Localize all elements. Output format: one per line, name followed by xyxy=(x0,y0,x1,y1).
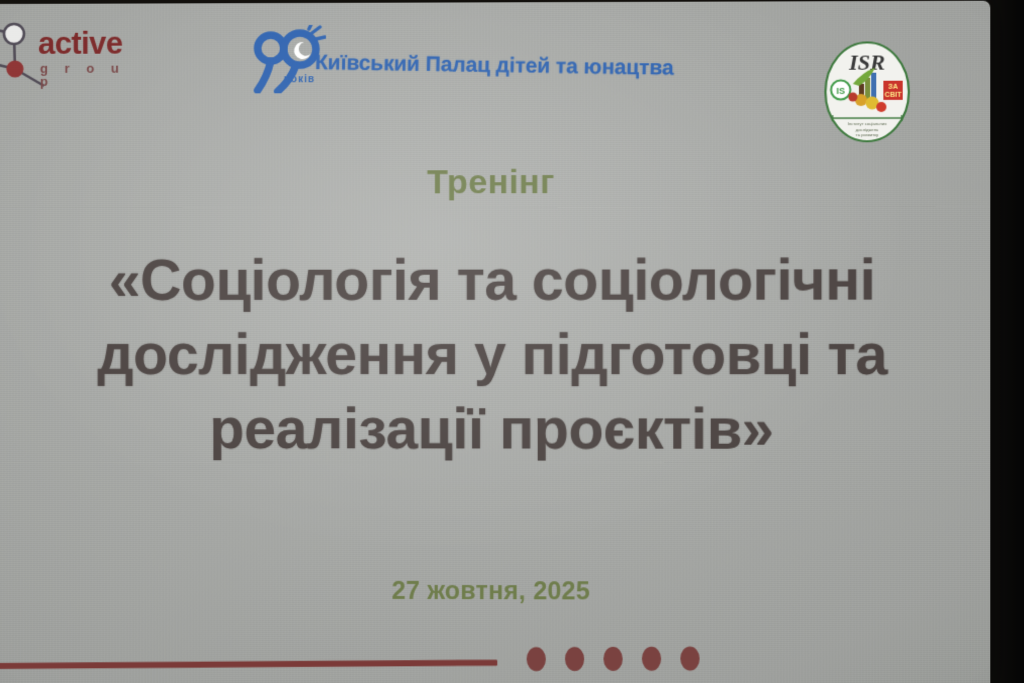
logo-active-group-subword: g r o u p xyxy=(40,62,146,88)
footer-rule xyxy=(0,660,497,669)
svg-text:Інститут соціальних: Інститут соціальних xyxy=(848,121,888,126)
footer-dot xyxy=(603,647,622,671)
logo-isr: ISR IS ЗА СВІТ xyxy=(814,39,920,144)
svg-text:СВІТ: СВІТ xyxy=(885,92,902,99)
isr-emblem-icon: ISR IS ЗА СВІТ xyxy=(814,39,920,144)
svg-text:років: років xyxy=(284,74,315,85)
logo-active-group: active g r o u p xyxy=(0,12,146,98)
logo-active-group-word: active xyxy=(38,28,122,59)
photograph: active g r o u p років Київський Палац xyxy=(0,0,1024,683)
footer-dot xyxy=(642,647,661,671)
headline-line-2: дослідження у підготовці та xyxy=(0,318,990,393)
footer-dots xyxy=(527,646,700,671)
headline-line-1: «Соціологія та соціологічні xyxy=(0,243,990,318)
logo-kyiv-palace-text: Київський Палац дітей та юнацтва xyxy=(315,51,674,81)
slide-kicker: Тренінг xyxy=(0,162,990,203)
presentation-slide: active g r o u p років Київський Палац xyxy=(0,1,990,683)
slide-headline: «Соціологія та соціологічні дослідження … xyxy=(0,243,990,467)
projection-screen: active g r o u p років Київський Палац xyxy=(0,1,990,683)
slide-date: 27 жовтня, 2025 xyxy=(0,576,990,607)
footer-dot xyxy=(565,647,584,671)
svg-text:ISR: ISR xyxy=(848,49,885,74)
svg-text:IS: IS xyxy=(836,86,845,96)
svg-text:ЗА: ЗА xyxy=(888,84,898,91)
footer-dot xyxy=(527,647,546,671)
headline-line-3: реалізації проєктів» xyxy=(0,392,990,467)
svg-text:та розвитку: та розвитку xyxy=(856,132,880,137)
footer-dot xyxy=(680,646,699,670)
